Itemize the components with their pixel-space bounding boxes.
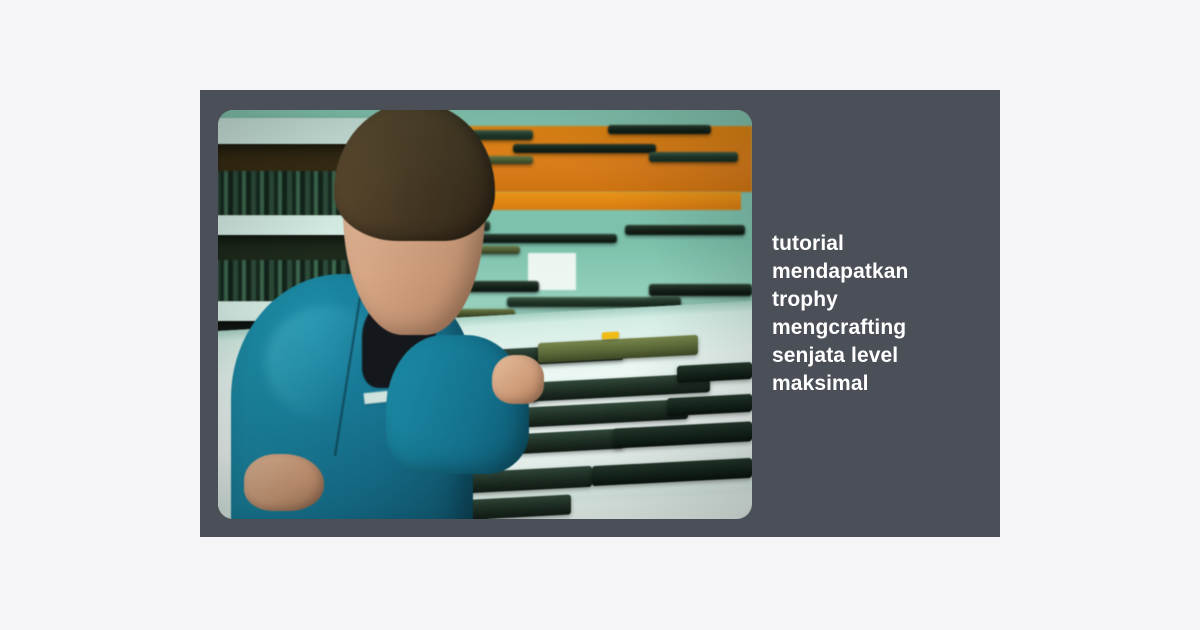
card-caption-text: tutorial mendapatkan trophy mengcrafting… bbox=[772, 230, 940, 398]
yellow-accent-marker bbox=[602, 331, 619, 338]
jacket-name-badge bbox=[364, 391, 389, 404]
worker-hand-left bbox=[244, 454, 325, 511]
photo-thumbnail[interactable] bbox=[218, 110, 752, 519]
worker-hair bbox=[334, 110, 495, 241]
page-root: tutorial mendapatkan trophy mengcrafting… bbox=[0, 0, 1200, 630]
worker-figure bbox=[250, 110, 560, 519]
social-share-card: tutorial mendapatkan trophy mengcrafting… bbox=[200, 90, 1000, 537]
worker-hand-right bbox=[492, 355, 545, 404]
card-caption: tutorial mendapatkan trophy mengcrafting… bbox=[772, 90, 986, 537]
photo-image bbox=[218, 110, 752, 519]
